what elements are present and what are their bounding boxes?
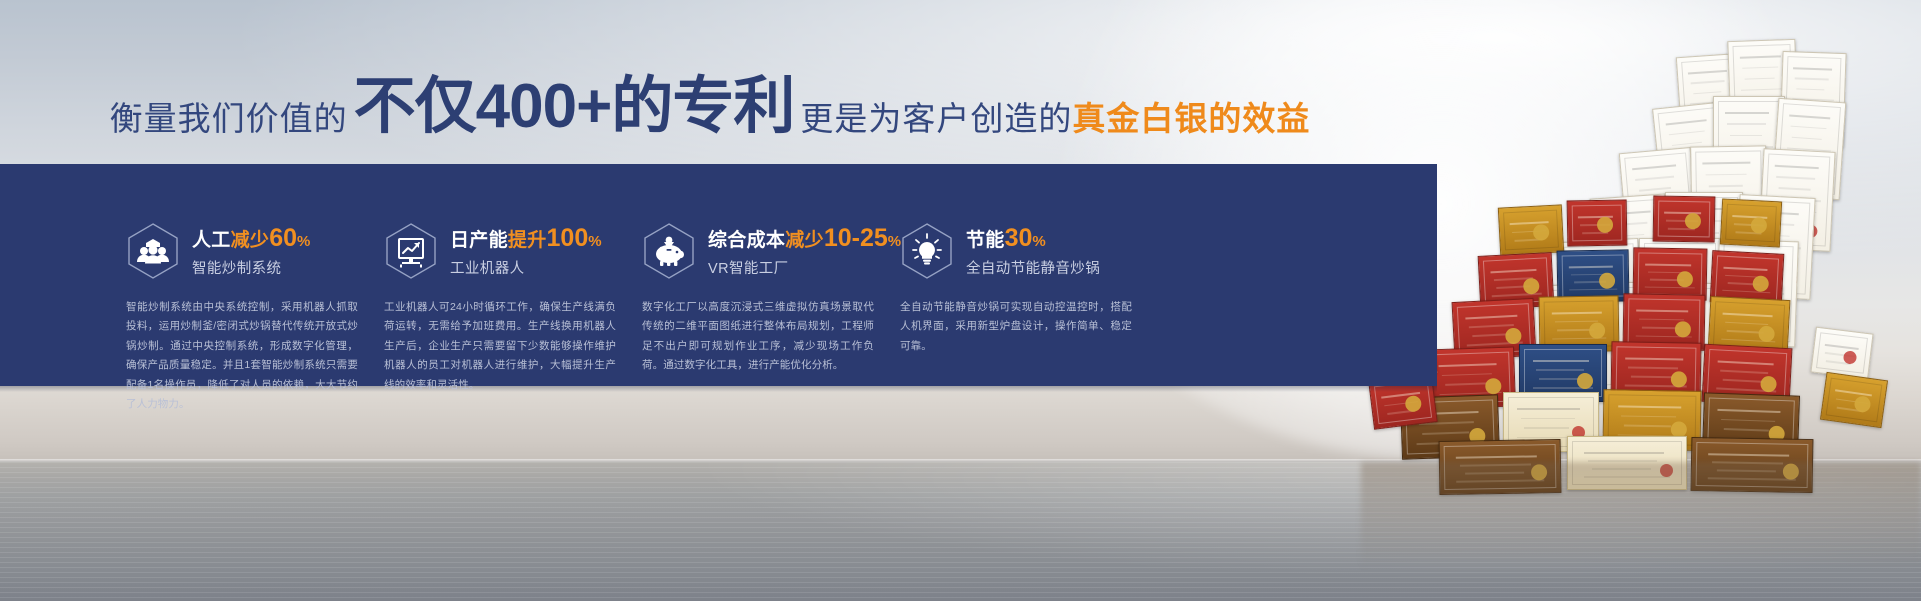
feature-titles: 节能30%全自动节能静音炒锅 [966, 224, 1100, 279]
certificate-text-line [1790, 125, 1826, 129]
feature-subtitle: VR智能工厂 [708, 257, 901, 278]
certificate-text-line [1635, 176, 1673, 181]
certificate-text-line [1797, 88, 1825, 90]
certificate-seal [1685, 213, 1701, 229]
certificate-text-line [1554, 320, 1598, 322]
certificate-text-line [1569, 288, 1617, 290]
certificate-text-line [1720, 370, 1769, 374]
certificate-text-line [1725, 321, 1769, 325]
certificate-border [1638, 252, 1703, 295]
certificate-text-line [1584, 452, 1664, 454]
certificate-text-line [1618, 405, 1682, 408]
certificate-border [1616, 346, 1697, 395]
certificate-text-line [1703, 162, 1750, 164]
certificate-border [1628, 298, 1701, 345]
feature-header: 节能30%全自动节能静音炒锅 [900, 216, 1158, 286]
certificate-border [1524, 349, 1602, 397]
feature-title-number: 10-25 [824, 224, 888, 252]
feature-subtitle: 智能炒制系统 [192, 257, 311, 278]
hexagon-badge [900, 222, 954, 280]
certificate-text-line [1718, 409, 1780, 413]
certificate-text-line [1691, 80, 1724, 84]
certificate-seal [1577, 373, 1593, 389]
certificate-item [1720, 198, 1782, 247]
certificate-text-line [1665, 119, 1706, 125]
certificate-text-line [1438, 363, 1496, 367]
feature-title-number: 60 [269, 224, 297, 252]
certificate-text-line [1469, 324, 1514, 328]
certificate-text-line [1717, 360, 1773, 364]
certificate-item [1810, 327, 1873, 380]
certificate-text-line [1792, 136, 1822, 140]
hexagon-badge [642, 222, 696, 280]
hexagon-badge [384, 222, 438, 280]
feature-title-prefix: 人工 [192, 230, 231, 251]
feature-titles: 人工减少60%智能炒制系统 [192, 224, 311, 279]
certificate-seal [1599, 273, 1615, 289]
certificate-text-line [1636, 310, 1688, 312]
feature-title-prefix: 综合成本 [708, 230, 785, 251]
certificate-border [1544, 300, 1615, 347]
certificate-text-line [1445, 382, 1487, 385]
certificate-text-line [1552, 312, 1602, 314]
certificate-text-line [1625, 357, 1683, 360]
certificate-border [1725, 204, 1777, 243]
certificate-text-line [1722, 313, 1772, 317]
certificate-seal [1533, 224, 1550, 241]
certificate-seal [1843, 350, 1857, 364]
certificate-text-line [1639, 318, 1684, 320]
feature-description: 智能炒制系统由中央系统控制，采用机器人抓取投料，运用炒制釜/密闭式炒锅替代传统开… [126, 298, 358, 415]
certificate-text-line [1521, 418, 1575, 420]
certificate-seal [1752, 275, 1769, 292]
feature-title-prefix: 节能 [966, 230, 1005, 251]
certificate-text-line [1795, 78, 1828, 81]
certificate-text-line [1793, 67, 1832, 70]
feature-block-1: 人工减少60%智能炒制系统智能炒制系统由中央系统控制，采用机器人抓取投料，运用炒… [126, 164, 384, 386]
certificate-border [1715, 255, 1779, 300]
certificate-seal [1677, 271, 1693, 287]
certificate-text-line [1524, 427, 1569, 429]
certificate-text-line [1727, 123, 1765, 125]
certificate-text-line [1456, 455, 1537, 458]
feature-header: 人工减少60%智能炒制系统 [126, 216, 384, 286]
certificate-text-line [1777, 176, 1815, 180]
feature-title: 人工减少60% [192, 224, 311, 253]
certificate-text-line [1465, 315, 1517, 319]
feature-title-highlight: 减少 [785, 230, 824, 251]
feature-title-highlight: 提升 [508, 230, 547, 251]
certificate-text-line [1639, 187, 1671, 191]
feature-title-prefix: 日产能 [450, 230, 508, 251]
certificate-text-line [1533, 360, 1589, 362]
feature-title: 节能30% [966, 224, 1100, 253]
feature-header: 综合成本减少10-25%VR智能工厂 [642, 216, 900, 286]
certificate-text-line [1706, 173, 1747, 175]
certificate-item [1498, 204, 1564, 255]
feature-block-2: 日产能提升100%工业机器人工业机器人可24小时循环工作，确保生产线满负荷运转，… [384, 164, 642, 386]
certificate-border [1562, 254, 1625, 297]
certificate-text-line [1632, 164, 1676, 169]
certificate-seal [1597, 217, 1613, 233]
certificate-text-line [1536, 369, 1585, 371]
feature-header: 日产能提升100%工业机器人 [384, 216, 642, 286]
certificate-text-line [1835, 389, 1872, 396]
certificate-item [1633, 247, 1708, 300]
certificate-text-line [1721, 418, 1775, 421]
certificate-reflection [1361, 462, 1921, 601]
certificate-text-line [1730, 135, 1762, 137]
certificate-text-line [1569, 266, 1613, 268]
headline-prefix: 衡量我们价值的 [110, 102, 348, 138]
certificate-text-line [1824, 344, 1858, 350]
feature-title: 综合成本减少10-25% [708, 224, 901, 253]
certificate-text-line [1724, 428, 1769, 431]
certificate-text-line [1472, 333, 1510, 336]
feature-description: 全自动节能静音炒锅可实现自动控温控时，搭配人机界面，采用新型炉盘设计，操作简单、… [900, 298, 1132, 356]
certificate-text-line [1688, 70, 1727, 74]
feature-subtitle: 工业机器人 [450, 257, 602, 278]
feature-title-highlight: 减少 [231, 230, 270, 251]
certificate-text-line [1423, 431, 1469, 434]
certificate-seal [1750, 217, 1767, 234]
feature-block-4: 节能30%全自动节能静音炒锅全自动节能静音炒锅可实现自动控温控时，搭配人机界面，… [900, 164, 1158, 386]
certificate-text-line [1628, 367, 1678, 369]
feature-title-number: 100 [547, 224, 589, 252]
certificate-text-line [1778, 187, 1810, 190]
certificate-border [1816, 332, 1868, 374]
certificate-text-line [1722, 379, 1763, 383]
certificate-text-line [1745, 77, 1775, 80]
feature-title-unit: % [297, 233, 311, 250]
certificate-text-line [1725, 112, 1769, 114]
certificate-text-line [1694, 91, 1722, 94]
feature-titles: 综合成本减少10-25%VR智能工厂 [708, 224, 901, 279]
certificate-text-line [1669, 130, 1705, 135]
certificate-text-line [1708, 453, 1789, 456]
certificate-border [1826, 378, 1883, 423]
certificate-text-line [1621, 415, 1676, 417]
certificate-text-line [1672, 141, 1702, 146]
feature-title-unit: % [588, 233, 602, 250]
certificate-text-line [1723, 267, 1767, 271]
headline-emphasis: 不仅400+的专利 [348, 76, 801, 138]
feature-title-unit: % [1032, 233, 1046, 250]
certificate-text-line [1539, 378, 1580, 380]
hexagon-badge [126, 222, 180, 280]
headline-middle: 更是为客户创造的 [800, 102, 1072, 138]
feature-titles: 日产能提升100%工业机器人 [450, 224, 602, 279]
page-title: 衡量我们价值的 不仅400+的专利 更是为客户创造的 真金白银的效益 [0, 74, 1420, 138]
certificate-text-line [1708, 185, 1743, 187]
certificate-border [1503, 210, 1559, 251]
feature-subtitle: 全自动节能静音炒锅 [966, 257, 1100, 278]
certificate-item [1567, 199, 1628, 246]
feature-description: 数字化工厂以高度沉浸式三维虚拟仿真场景取代传统的二维平面图纸进行整体布局规划，工… [642, 298, 874, 376]
certificate-text-line [1741, 88, 1786, 91]
certificate-text-line [1742, 66, 1778, 69]
certificate-border [1572, 205, 1623, 242]
certificate-text-line [1739, 55, 1780, 58]
certificate-text-line [1624, 425, 1670, 427]
certificate-text-line [1789, 115, 1830, 119]
feature-title: 日产能提升100% [450, 224, 602, 253]
certificate-border [1658, 201, 1711, 238]
certificate-item [1820, 372, 1888, 428]
certificate-text-line [1442, 373, 1492, 376]
feature-description: 工业机器人可24小时循环工作，确保生产线满负荷运转，无需给予加班费用。生产线换用… [384, 298, 616, 395]
certificate-text-line [1517, 408, 1579, 410]
feature-block-3: 综合成本减少10-25%VR智能工厂数字化工厂以高度沉浸式三维虚拟仿真场景取代传… [642, 164, 900, 386]
feature-title-number: 30 [1005, 224, 1033, 252]
feature-list: 人工减少60%智能炒制系统智能炒制系统由中央系统控制，采用机器人抓取投料，运用炒… [0, 164, 1437, 386]
certificate-text-line [1775, 165, 1819, 169]
certificate-text-line [1645, 264, 1691, 266]
certificate-text-line [1631, 376, 1673, 378]
certificate-text-line [1491, 269, 1537, 273]
certificate-border [1713, 301, 1785, 351]
certificate-item [1653, 195, 1716, 242]
headline-highlight: 真金白银的效益 [1072, 102, 1310, 138]
certificate-text-line [1641, 327, 1679, 329]
